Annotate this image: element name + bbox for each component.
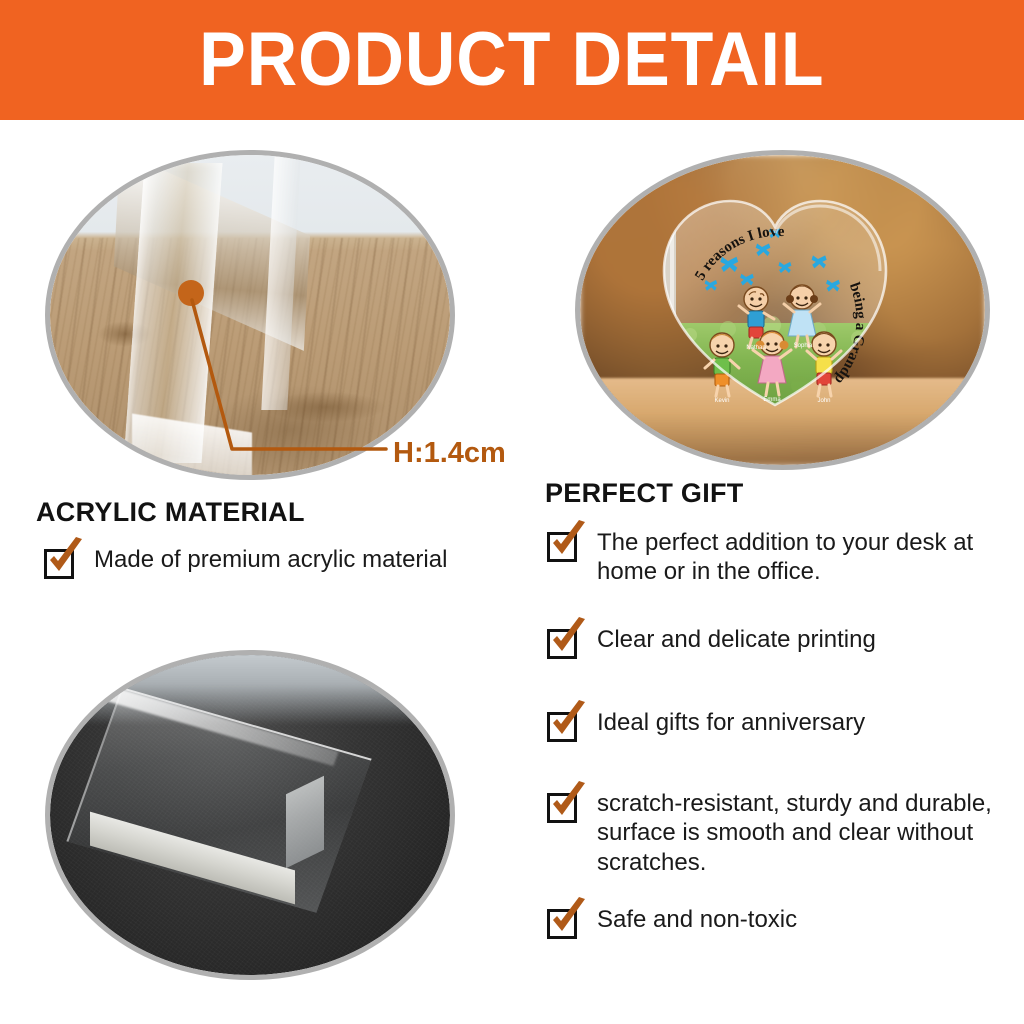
kid-name-label: John (817, 398, 830, 404)
bullet-item: Made of premium acrylic material (44, 545, 514, 579)
section-title-acrylic-material: ACRYLIC MATERIAL (36, 497, 305, 528)
section-title-perfect-gift: PERFECT GIFT (545, 478, 744, 509)
checkmark-icon (545, 615, 591, 661)
photo-acrylic-edge-on-wood (45, 150, 455, 480)
bullet-item: Clear and delicate printing (547, 625, 995, 659)
dimension-marker-dot (178, 280, 204, 306)
page-title: PRODUCT DETAIL (199, 22, 824, 98)
bullet-text: Clear and delicate printing (597, 625, 876, 654)
photo-heart-plaque: Nathan Sophia Kevin Emma John 5 reasons … (575, 150, 990, 470)
photo-acrylic-slab-on-slate (45, 650, 455, 980)
product-detail-page: PRODUCT DETAIL H:1.4cm (0, 0, 1024, 1024)
bullet-item: scratch-resistant, sturdy and durable, s… (547, 789, 1007, 877)
checkbox-checked-icon (547, 789, 581, 823)
checkmark-icon (545, 779, 591, 825)
bullet-text: scratch-resistant, sturdy and durable, s… (597, 789, 1007, 877)
page-header-banner: PRODUCT DETAIL (0, 0, 1024, 120)
bullet-text: Safe and non-toxic (597, 905, 797, 934)
checkbox-checked-icon (547, 708, 581, 742)
checkmark-icon (545, 518, 591, 564)
bullet-text: The perfect addition to your desk at hom… (597, 528, 995, 587)
checkbox-checked-icon (547, 905, 581, 939)
photo-heart-inner: Nathan Sophia Kevin Emma John 5 reasons … (580, 155, 985, 465)
checkmark-icon (545, 895, 591, 941)
checkbox-checked-icon (547, 625, 581, 659)
heart-acrylic-plaque: Nathan Sophia Kevin Emma John 5 reasons … (650, 173, 900, 413)
bullet-text: Ideal gifts for anniversary (597, 708, 865, 737)
bullet-item: Ideal gifts for anniversary (547, 708, 995, 742)
kid-name-label: Sophia (794, 343, 813, 349)
bullet-item: The perfect addition to your desk at hom… (547, 528, 995, 587)
photo-slab-inner (50, 655, 450, 975)
checkmark-icon (545, 698, 591, 744)
kid-name-label: Kevin (714, 398, 729, 404)
kid-figure-front-1 (705, 333, 739, 396)
photo-edge-inner (50, 155, 450, 475)
dimension-label: H:1.4cm (393, 437, 506, 470)
bullet-item: Safe and non-toxic (547, 905, 995, 939)
checkbox-checked-icon (44, 545, 78, 579)
bullet-text: Made of premium acrylic material (94, 545, 447, 574)
checkmark-icon (42, 535, 88, 581)
kid-name-label: Nathan (746, 345, 765, 351)
heart-plaque-svg: Nathan Sophia Kevin Emma John 5 reasons … (650, 173, 900, 423)
checkbox-checked-icon (547, 528, 581, 562)
